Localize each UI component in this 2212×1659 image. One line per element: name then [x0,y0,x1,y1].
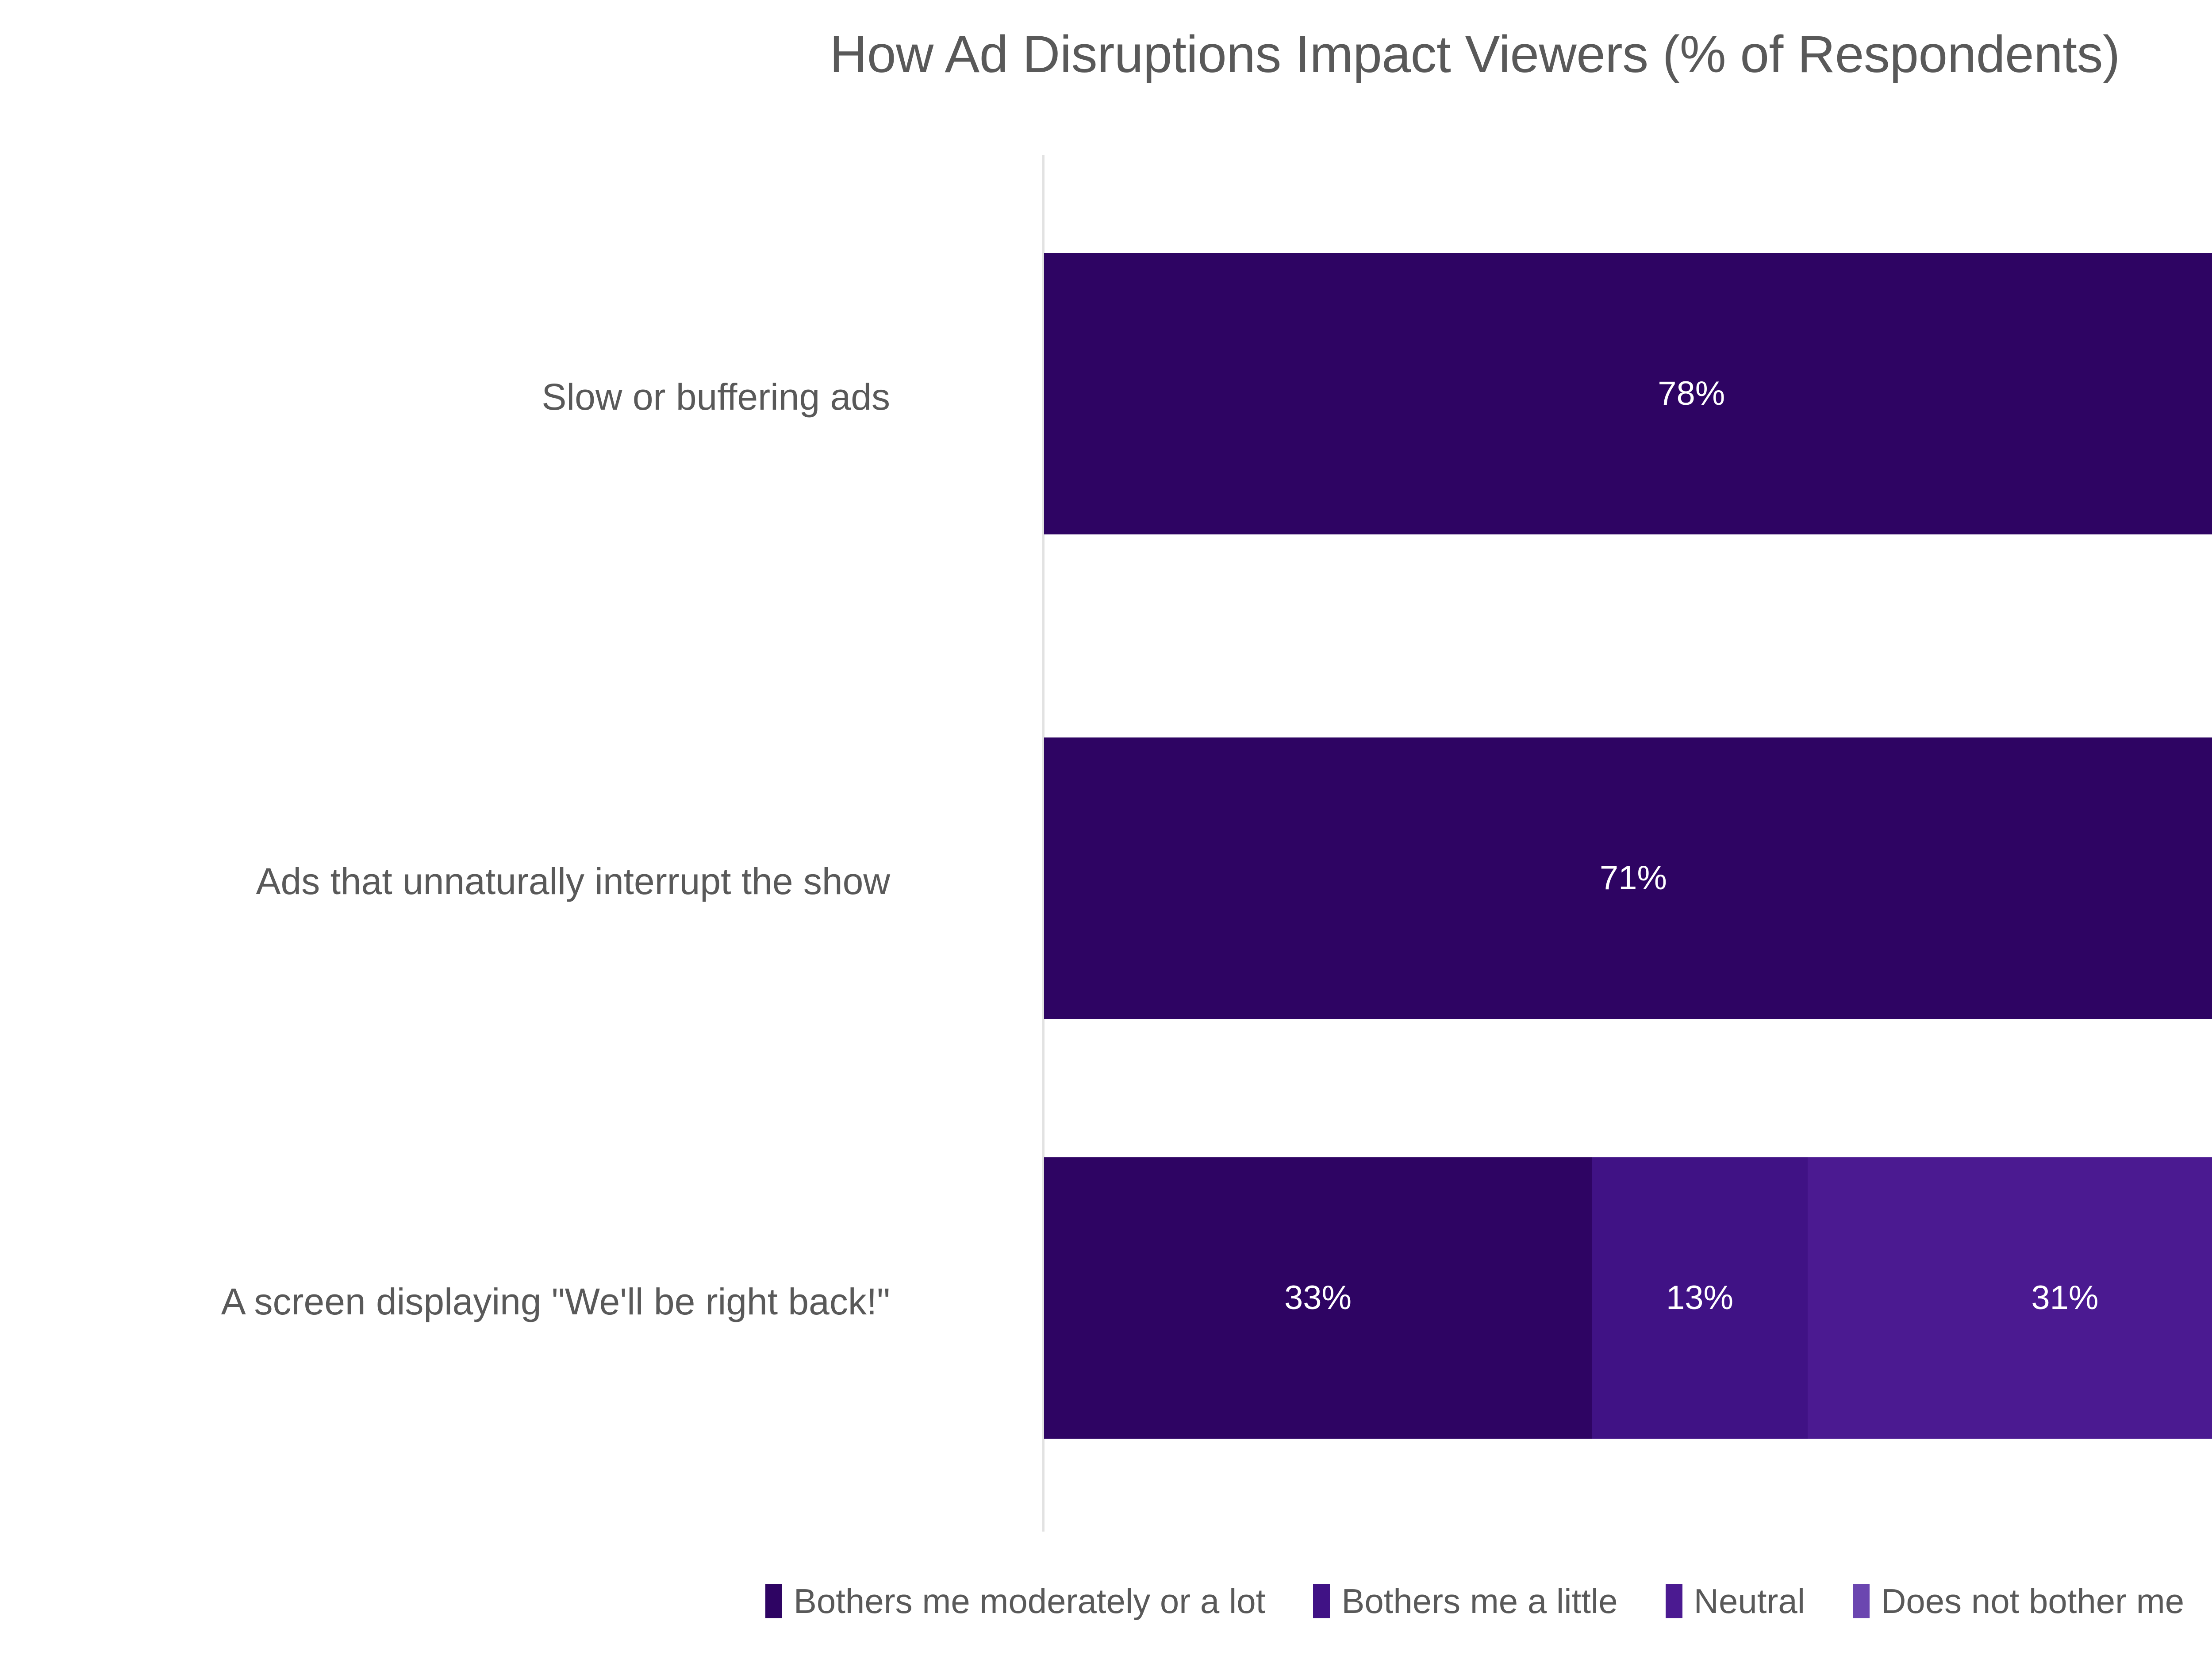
bar-segment[interactable]: 71% [1044,737,2212,1019]
chart-legend: Bothers me moderately or a lot Bothers m… [0,1584,2212,1618]
legend-item-2[interactable]: Neutral [1666,1584,1805,1618]
category-label-1: Ads that unnaturally interrupt the show [0,863,890,900]
bar-segment-label: 31% [2031,1281,2098,1315]
legend-swatch-icon [765,1584,782,1618]
legend-label: Bothers me a little [1341,1584,1617,1618]
stacked-bar-row: 78% 11% 7% 4% [1044,253,2212,534]
bar-segment[interactable]: 31% [1808,1157,2212,1439]
bar-segment[interactable]: 33% [1044,1157,1592,1439]
legend-swatch-icon [1313,1584,1330,1618]
bar-segment[interactable]: 13% [1592,1157,1808,1439]
legend-item-1[interactable]: Bothers me a little [1313,1584,1617,1618]
bar-segment-label: 13% [1666,1281,1733,1315]
legend-item-3[interactable]: Does not bother me [1853,1584,2184,1618]
legend-swatch-icon [1666,1584,1682,1618]
stacked-bar-row: 71% 13% 10% 6% [1044,737,2212,1019]
legend-swatch-icon [1853,1584,1870,1618]
legend-label: Neutral [1694,1584,1805,1618]
bar-segment-label: 78% [1658,377,1725,411]
bar-segment[interactable]: 78% [1044,253,2212,534]
bar-segment-label: 71% [1600,861,1667,895]
category-label-2: A screen displaying "We'll be right back… [0,1283,890,1320]
legend-label: Does not bother me [1881,1584,2184,1618]
bar-segment-label: 33% [1284,1281,1352,1315]
chart-plot-area: Slow or buffering ads Ads that unnatural… [0,0,2212,1659]
legend-item-0[interactable]: Bothers me moderately or a lot [765,1584,1265,1618]
legend-label: Bothers me moderately or a lot [794,1584,1265,1618]
category-label-0: Slow or buffering ads [0,378,890,415]
stacked-bar-row: 33% 13% 31% 23% [1044,1157,2212,1439]
